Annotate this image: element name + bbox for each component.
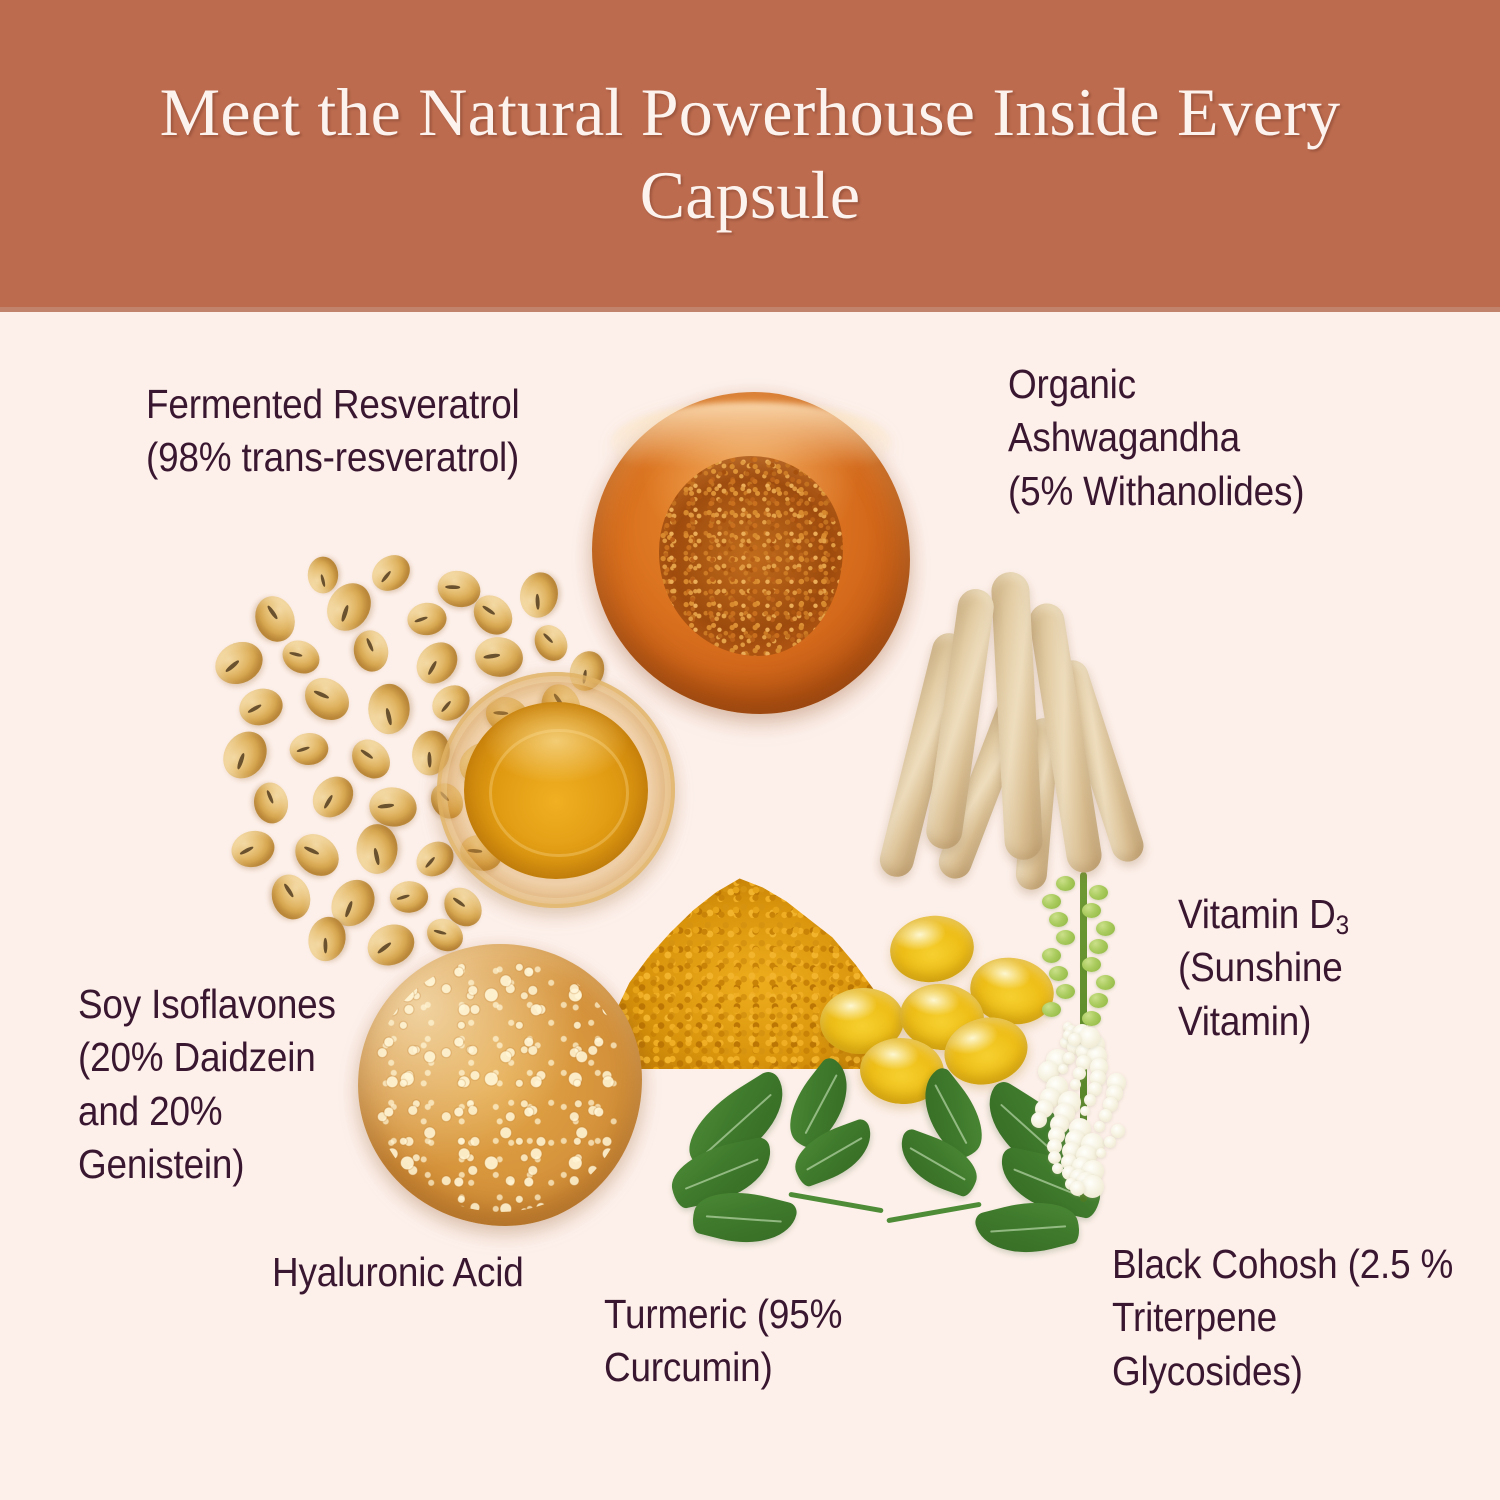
white-floret <box>1058 1064 1068 1074</box>
soybean <box>308 557 338 594</box>
white-floret <box>1068 1033 1081 1046</box>
flower-bud <box>1042 1002 1061 1017</box>
soybean <box>356 823 399 874</box>
label-hyaluronic-acid: Hyaluronic Acid <box>272 1246 542 1299</box>
leaf-stem <box>788 1192 883 1214</box>
flower-bud <box>1056 930 1075 945</box>
label-vitamin-d3-main: Vitamin D <box>1178 891 1336 937</box>
flower-bud <box>1096 975 1115 990</box>
flower-bud <box>1042 894 1061 909</box>
gel-bubbles <box>372 958 628 1212</box>
soybean <box>365 548 417 598</box>
label-vitamin-d3-subscript: 3 <box>1336 910 1349 940</box>
white-floret <box>1079 1027 1100 1048</box>
white-floret <box>1070 1079 1081 1090</box>
flower-bud <box>1089 885 1108 900</box>
soybean <box>305 768 362 825</box>
soybean <box>277 634 325 679</box>
label-organic-ashwagandha: Organic Ashwagandha (5% Withanolides) <box>1008 358 1386 518</box>
flower-bud <box>1056 876 1075 891</box>
page-title: Meet the Natural Powerhouse Inside Every… <box>85 71 1415 237</box>
white-floret <box>1070 1181 1085 1196</box>
flower-bud <box>1042 948 1061 963</box>
soybean <box>528 619 574 667</box>
white-floret <box>1031 1112 1047 1128</box>
flower-bud <box>1089 939 1108 954</box>
soybean <box>368 684 410 735</box>
flower-bud <box>1096 921 1115 936</box>
label-fermented-resveratrol: Fermented Resveratrol (98% trans-resvera… <box>146 378 650 485</box>
green-leaf-left-image <box>664 1072 894 1287</box>
white-floret <box>1063 1052 1075 1064</box>
soybean <box>297 669 358 728</box>
white-floret <box>1099 1109 1112 1122</box>
white-floret <box>1104 1136 1116 1148</box>
soybean <box>266 869 316 924</box>
flower-bud <box>1089 993 1108 1008</box>
leaf-stem <box>886 1202 981 1224</box>
soybean <box>406 601 448 637</box>
white-floret <box>1084 1094 1096 1106</box>
black-cohosh-flower-image <box>1028 872 1138 1202</box>
label-black-cohosh: Black Cohosh (2.5 % Triterpene Glycoside… <box>1112 1238 1472 1398</box>
flower-bud <box>1082 903 1101 918</box>
soybean <box>208 634 269 692</box>
white-floret <box>1080 1106 1090 1116</box>
soybean <box>344 732 398 786</box>
label-vitamin-d3-rest: (Sunshine Vitamin) <box>1178 944 1343 1043</box>
flower-bud <box>1049 912 1068 927</box>
flower-bud <box>1049 966 1068 981</box>
white-floret <box>1094 1121 1105 1132</box>
header-divider <box>0 307 1500 312</box>
soybean <box>235 684 287 730</box>
flower-bud <box>1056 984 1075 999</box>
soybean <box>251 780 291 826</box>
soybean <box>389 880 429 913</box>
soybean <box>249 590 301 647</box>
white-floret <box>1096 1148 1106 1158</box>
soybean <box>351 628 392 675</box>
softgel-capsule <box>886 910 978 987</box>
label-soy-isoflavones: Soy Isoflavones (20% Daidzein and 20% Ge… <box>78 978 375 1191</box>
label-turmeric: Turmeric (95% Curcumin) <box>604 1288 892 1395</box>
soybean <box>228 826 279 871</box>
hyaluronic-acid-gel-image <box>358 944 642 1226</box>
soybean <box>215 723 276 786</box>
soybean <box>516 569 562 621</box>
ashwagandha-roots-image <box>898 568 1198 886</box>
header-banner: Meet the Natural Powerhouse Inside Every… <box>0 0 1500 307</box>
oil-surface-ring <box>489 729 628 858</box>
soybean <box>289 732 330 767</box>
soybean <box>367 785 419 830</box>
label-vitamin-d3: Vitamin D3 (Sunshine Vitamin) <box>1178 888 1466 1048</box>
infographic-canvas: Meet the Natural Powerhouse Inside Every… <box>0 0 1500 1500</box>
white-floret <box>1048 1151 1061 1164</box>
flower-bud <box>1082 957 1101 972</box>
